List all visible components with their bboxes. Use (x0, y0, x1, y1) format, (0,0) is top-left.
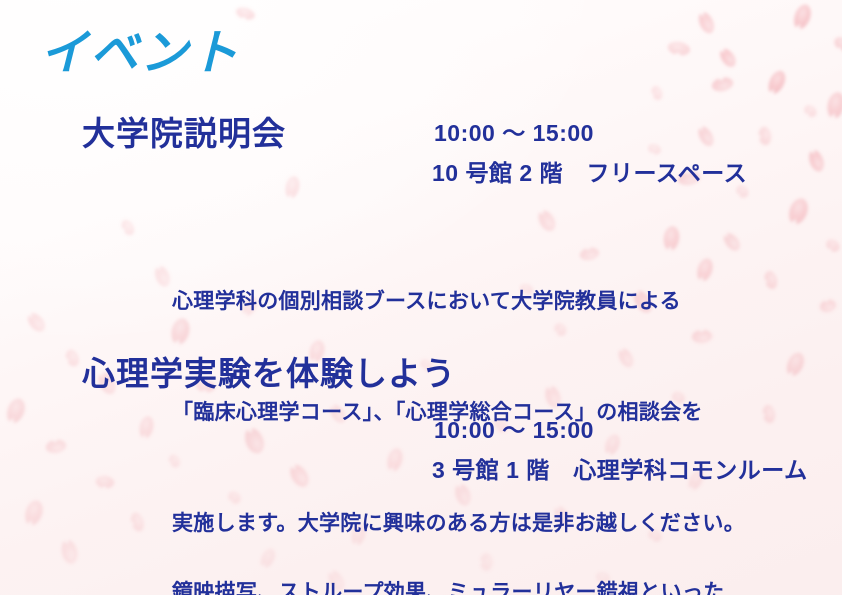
section-2-description: 鏡映描写、ストループ効果、ミュラーリヤー錯視といった 心理学で有名な実験を実際に… (172, 500, 725, 595)
section-heading-psychology-experiment: 心理学実験を体験しよう (82, 355, 456, 393)
event-poster: イベント 大学院説明会 10:00 〜 15:00 10 号館 2 階 フリース… (0, 0, 842, 595)
section-2-time: 10:00 〜 15:00 (434, 417, 594, 445)
section-1-time: 10:00 〜 15:00 (434, 120, 594, 148)
section-heading-graduate-briefing: 大学院説明会 (82, 115, 286, 153)
section-1-place: 10 号館 2 階 フリースペース (432, 160, 747, 188)
section-1-description-line: 心理学科の個別相談ブースにおいて大学院教員による (172, 283, 745, 320)
section-2-description-line: 鏡映描写、ストループ効果、ミュラーリヤー錯視といった (172, 574, 725, 595)
page-title: イベント (40, 28, 240, 81)
section-2-place: 3 号館 1 階 心理学科コモンルーム (432, 457, 808, 485)
poster-content: イベント 大学院説明会 10:00 〜 15:00 10 号館 2 階 フリース… (0, 0, 842, 595)
